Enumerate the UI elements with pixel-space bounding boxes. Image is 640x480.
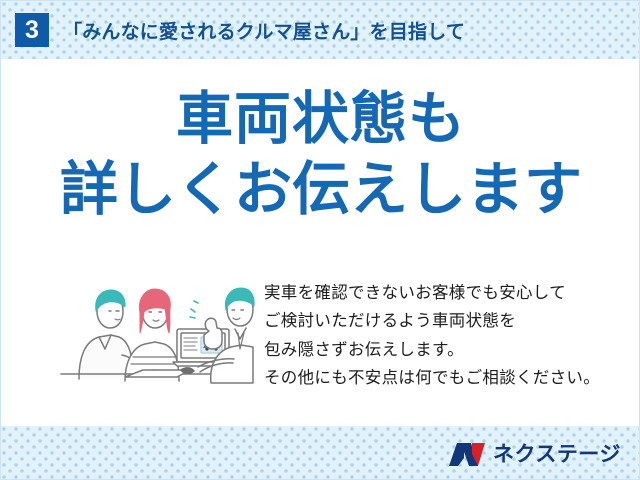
body-line-4: その他にも不安点は何でもご相談ください。	[264, 364, 624, 392]
step-number-badge: 3	[15, 13, 49, 47]
brand-name: ネクステージ	[493, 444, 621, 465]
headline-line-1: 車両状態も	[1, 85, 640, 155]
headline-line-2: 詳しくお伝えします	[1, 155, 640, 226]
page-title: 車両状態も 詳しくお伝えします	[1, 85, 640, 225]
brand-logo: ネクステージ	[448, 439, 621, 469]
body-line-2: ご検討いただけるよう車両状態を	[264, 307, 624, 335]
main-content: 車両状態も 詳しくお伝えします	[1, 59, 640, 426]
consultation-illustration-svg	[59, 271, 255, 385]
body-line-3: 包み隠さずお伝えします。	[264, 336, 624, 364]
consultation-illustration	[59, 271, 255, 385]
body-copy: 実車を確認できないお客様でも安心して ご検討いただけるよう車両状態を 包み隠さず…	[264, 279, 624, 393]
body-line-1: 実車を確認できないお客様でも安心して	[264, 279, 624, 307]
header-title: 「みんなに愛されるクルマ屋さん」を目指して	[63, 17, 465, 44]
promotional-banner: 3 「みんなに愛されるクルマ屋さん」を目指して 車両状態も 詳しくお伝えします	[0, 0, 640, 480]
header: 3 「みんなに愛されるクルマ屋さん」を目指して	[1, 1, 640, 59]
nextage-n-mark-icon	[448, 441, 486, 468]
